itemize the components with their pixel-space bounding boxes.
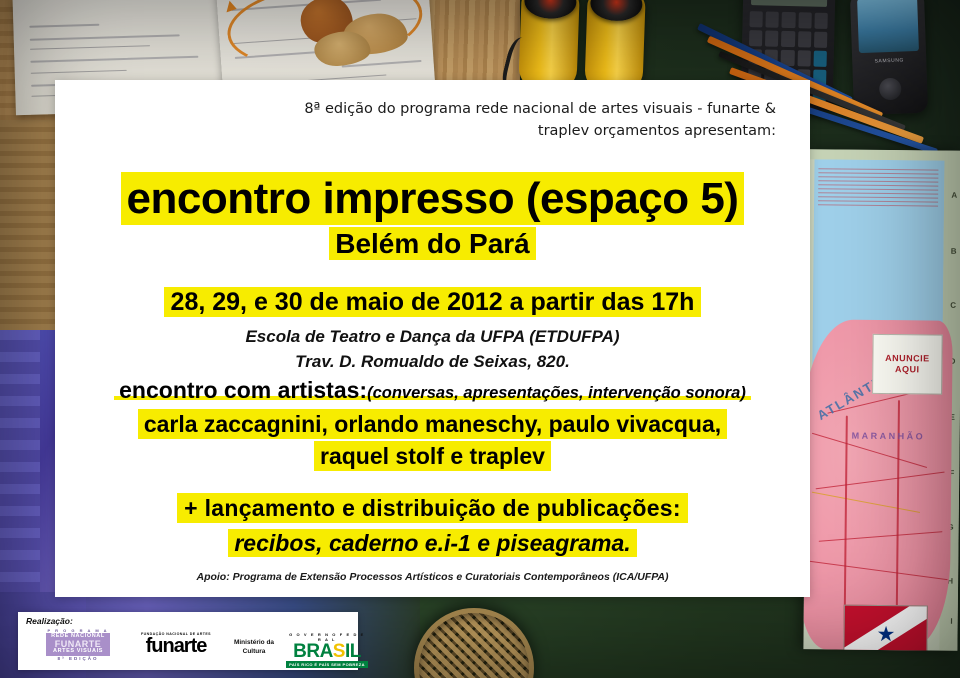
event-dateline-text: 28, 29, e 30 de maio de 2012 a partir da… xyxy=(164,287,702,317)
brasil-wordmark: BRASIL xyxy=(286,642,368,661)
artists-line-two-text: raquel stolf e traplev xyxy=(314,441,551,471)
para-state-flag: ★ xyxy=(843,605,928,651)
preamble-text: 8ª edição do programa rede nacional de a… xyxy=(276,98,776,143)
artists-heading-parenthetical: (conversas, apresentações, intervenção s… xyxy=(367,384,746,402)
brasil-wordmark-il: IL xyxy=(345,641,361,662)
page-title: encontro impresso (espaço 5) xyxy=(55,174,810,224)
poster-white-panel: 8ª edição do programa rede nacional de a… xyxy=(55,80,810,597)
event-dateline: 28, 29, e 30 de maio de 2012 a partir da… xyxy=(55,288,810,317)
venue-address: Trav. D. Romualdo de Seixas, 820. xyxy=(55,350,810,375)
page-title-text: encontro impresso (espaço 5) xyxy=(121,172,745,225)
brasil-wordmark-bra: BRA xyxy=(293,641,333,662)
ministerio-line1: Ministério da xyxy=(226,638,282,647)
publications-launch-heading: + lançamento e distribuição de publicaçõ… xyxy=(55,495,810,522)
rede-nacional-artes-visuais-logo: P R O G R A M A REDE NACIONAL FUNARTE AR… xyxy=(44,628,112,662)
samsung-mobile-phone: SAMSUNG xyxy=(850,0,928,115)
map-roads xyxy=(803,149,960,651)
sponsor-logo-bar: Realização: P R O G R A M A REDE NACIONA… xyxy=(18,612,358,670)
publications-launch-text: + lançamento e distribuição de publicaçõ… xyxy=(177,493,688,523)
publications-list-text: recibos, caderno e.i-1 e piseagrama. xyxy=(228,529,636,557)
poster-root: SAMSUNG ABC DEF GHIJ xyxy=(0,0,960,678)
artists-heading-label: encontro com artistas: xyxy=(119,377,367,403)
brasil-wordmark-s: S xyxy=(333,641,345,662)
page-subtitle-text: Belém do Pará xyxy=(329,227,536,260)
support-credit: Apoio: Programa de Extensão Processos Ar… xyxy=(55,571,810,583)
venue-name: Escola de Teatro e Dança da UFPA (ETDUFP… xyxy=(55,325,810,350)
map-state-label: MARANHÃO xyxy=(852,431,926,442)
rede-edicao-label: 8ª EDIÇÃO xyxy=(58,657,99,662)
governo-federal-brasil-logo: G O V E R N O F E D E R A L BRASIL PAÍS … xyxy=(286,632,368,668)
map-advertisement-box: ANUNCIE AQUI xyxy=(872,334,943,395)
event-venue: Escola de Teatro e Dança da UFPA (ETDUFP… xyxy=(55,325,810,374)
artists-line-one: carla zaccagnini, orlando maneschy, paul… xyxy=(55,411,810,438)
rede-line3: ARTES VISUAIS xyxy=(46,649,110,655)
funarte-wordmark: funarte xyxy=(130,636,222,656)
page-subtitle: Belém do Pará xyxy=(55,228,810,260)
artists-section-heading: encontro com artistas:(conversas, aprese… xyxy=(55,377,810,404)
phone-brand-label: SAMSUNG xyxy=(852,57,926,66)
ministerio-line2: Cultura xyxy=(226,647,282,656)
artists-line-one-text: carla zaccagnini, orlando maneschy, paul… xyxy=(138,409,727,439)
artists-line-two: raquel stolf e traplev xyxy=(55,443,810,470)
publications-list: recibos, caderno e.i-1 e piseagrama. xyxy=(55,530,810,557)
brasil-tagline: PAÍS RICO É PAÍS SEM POBREZA xyxy=(286,661,368,668)
ministerio-da-cultura-logo: Ministério da Cultura xyxy=(226,638,282,656)
road-atlas-map: ABC DEF GHIJ ATLÂNTICO ANUNCIE AQUI MARA… xyxy=(803,149,960,651)
funarte-logo: FUNDAÇÃO NACIONAL DE ARTES funarte xyxy=(130,632,222,656)
realizacao-label: Realização: xyxy=(26,616,73,626)
